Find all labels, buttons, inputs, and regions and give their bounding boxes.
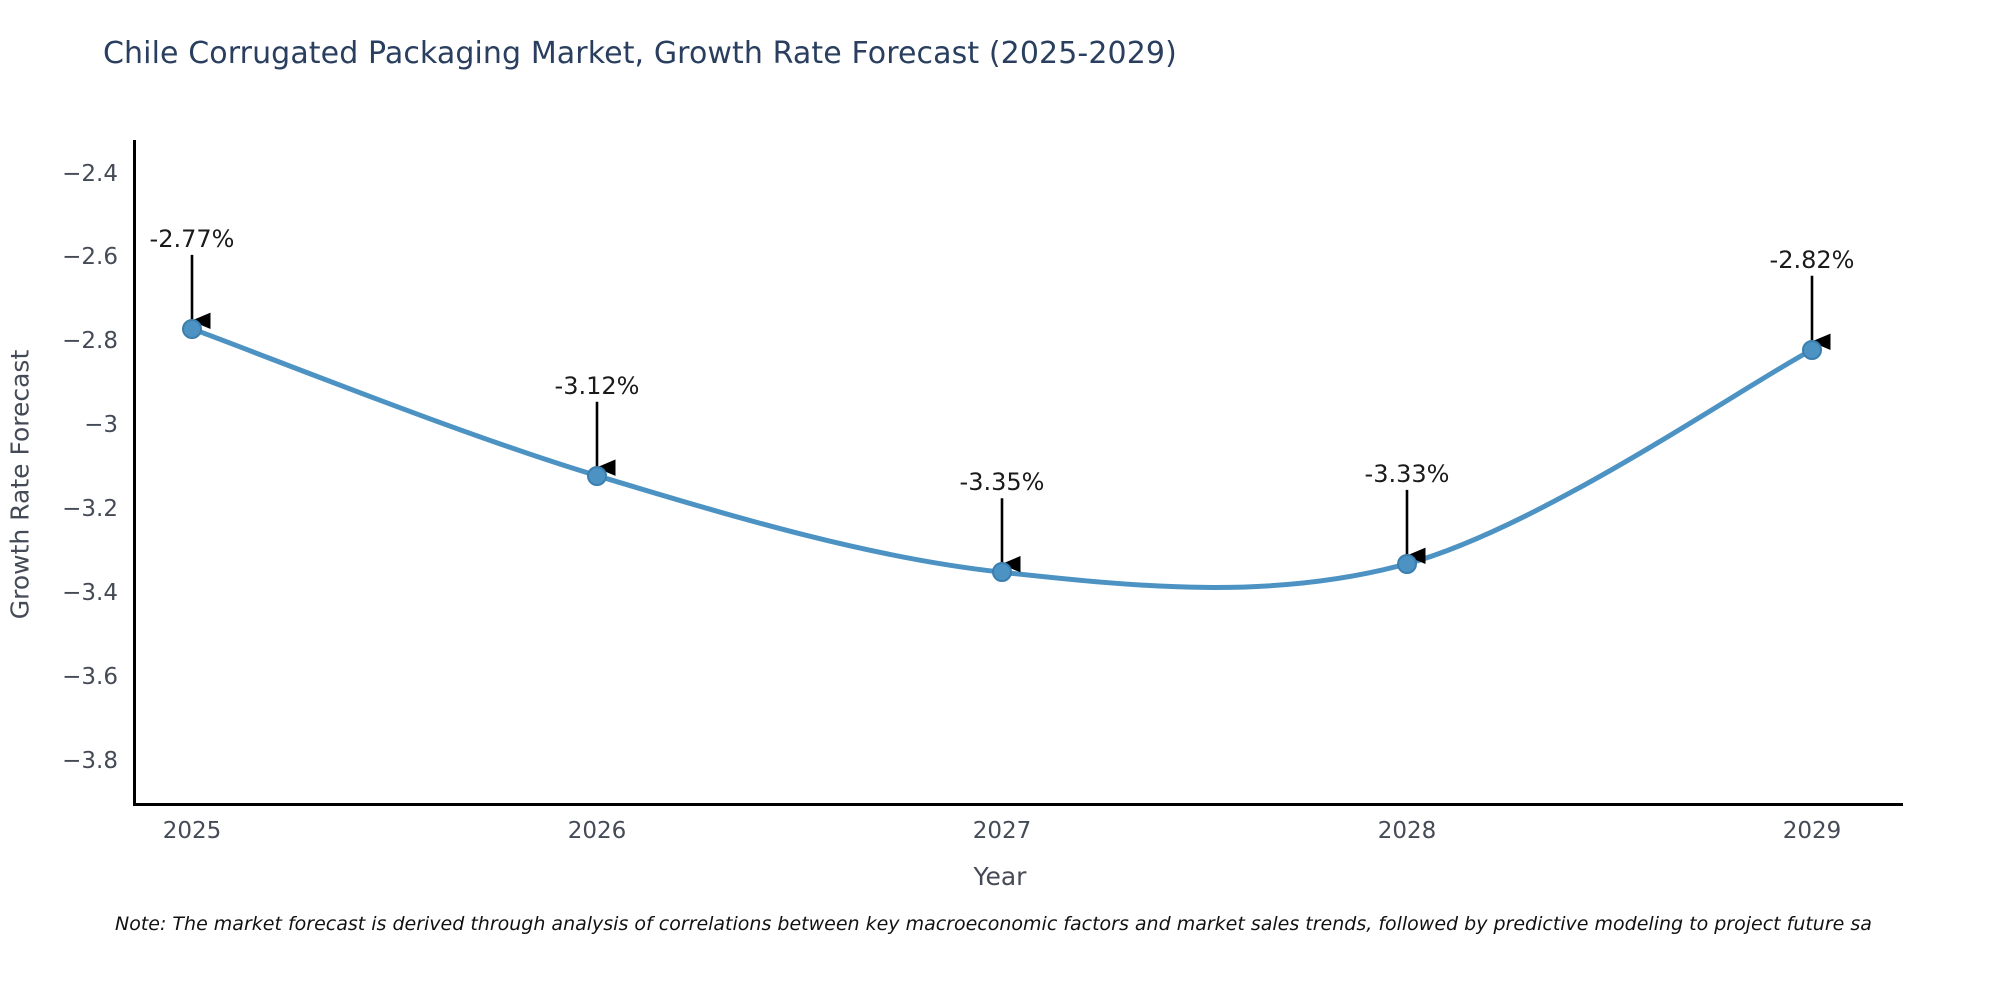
y-axis-title: Growth Rate Forecast [6, 335, 35, 635]
chart-note: Note: The market forecast is derived thr… [115, 913, 1872, 935]
x-axis-title: Year [0, 862, 2000, 891]
data-point-marker[interactable] [587, 466, 607, 486]
data-point-label: -2.77% [150, 225, 235, 253]
annotation-arrows [0, 0, 2000, 1000]
chart-figure: Chile Corrugated Packaging Market, Growt… [0, 0, 2000, 1000]
data-point-marker[interactable] [1397, 554, 1417, 574]
data-point-marker[interactable] [1802, 340, 1822, 360]
data-point-marker[interactable] [182, 319, 202, 339]
data-point-label: -3.12% [555, 372, 640, 400]
data-point-label: -2.82% [1770, 246, 1855, 274]
data-point-label: -3.33% [1365, 460, 1450, 488]
data-point-label: -3.35% [960, 468, 1045, 496]
